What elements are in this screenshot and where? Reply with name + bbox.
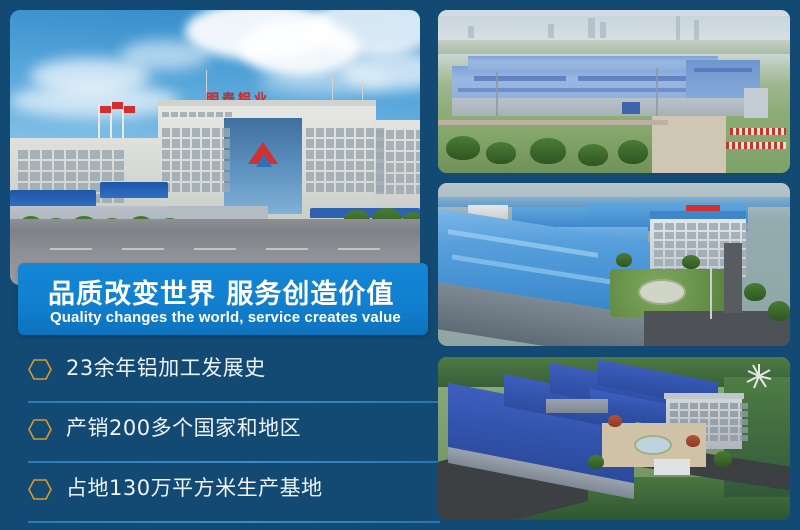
hexagon-icon [28,479,52,500]
tree [744,283,766,301]
fountain [638,279,686,305]
road-marking [338,248,380,250]
cloud [10,84,180,118]
tree [714,451,732,467]
list-item-label: 23余年铝加工发展史 [66,352,266,382]
list-item-label: 占地130万平方米生产基地 [66,472,323,502]
window-grid [376,130,420,194]
plant-roof [468,56,718,70]
entry-gatehouse [654,459,690,475]
office-roof [650,211,746,219]
chimney [676,16,680,40]
plant-tower [744,88,768,118]
list-item-label: 产销200多个国家和地区 [66,412,301,442]
factory-rendering [438,357,790,520]
plant-facade [452,98,760,116]
factory-aerial-courtyard [438,183,790,346]
tree [616,253,632,267]
list-item[interactable]: 产销200多个国家和地区 [18,403,440,463]
flag [100,106,111,113]
distant-tower [548,24,554,38]
tree [686,435,700,447]
tree [486,142,516,164]
service-road [438,120,668,125]
gate-cornice [664,393,744,399]
plant-road [724,243,742,313]
tree [530,138,566,164]
road-marking [50,248,92,250]
hero-image: 明泰铝业 [10,10,420,285]
plant-door [622,102,640,114]
left-column: 明泰铝业 [10,10,420,520]
cloud [260,68,390,94]
tree [588,455,604,469]
roof-ridge [694,68,752,72]
roof-ridge [578,76,688,81]
window-grid [306,128,384,192]
tagline-banner: 品质改变世界 服务创造价值 Quality changes the world,… [18,263,428,335]
road-marking [194,248,236,250]
gallery-column [438,10,790,520]
blue-roof-shed [100,182,168,198]
tree [768,301,790,321]
list-item[interactable]: 占地130万平方米生产基地 [18,463,440,523]
parked-vehicles [726,142,786,149]
workshop-side [546,399,608,413]
factory-aerial-wide [438,10,790,173]
distant-tower [694,20,699,40]
fountain [634,435,672,455]
light-pole [710,267,712,319]
tree [618,140,648,164]
flag [112,102,123,109]
hexagon-icon [28,419,52,440]
tree [578,144,608,166]
rooftop-signage [686,205,720,211]
tree [608,415,622,427]
list-item[interactable]: 23余年铝加工发展史 [18,343,440,403]
antenna [332,72,333,102]
distant-tower [468,26,474,38]
tree [682,255,700,269]
flag [124,106,135,113]
feature-list: 23余年铝加工发展史 产销200多个国家和地区 占地130万 [18,343,440,523]
cloud [120,40,210,70]
distant-field [438,40,790,54]
distant-tower [600,22,606,38]
hazy-skyline [438,16,790,42]
road-marking [122,248,164,250]
tagline-subline: Quality changes the world, service creat… [50,309,401,326]
window-grid [162,112,232,117]
sunburst-icon [746,363,772,389]
parked-vehicles [730,128,786,135]
road-marking [266,248,308,250]
plant-road [644,311,790,346]
hexagon-icon [28,359,52,380]
promotional-page: 明泰铝业 [0,0,800,530]
company-logo-inner [256,154,272,167]
tagline-headline: 品质改变世界 服务创造价值 [48,272,394,311]
distant-tower [588,18,595,38]
window-grid [162,128,230,192]
tree [446,136,480,160]
list-divider [28,521,440,523]
roof-ridge [474,76,566,81]
